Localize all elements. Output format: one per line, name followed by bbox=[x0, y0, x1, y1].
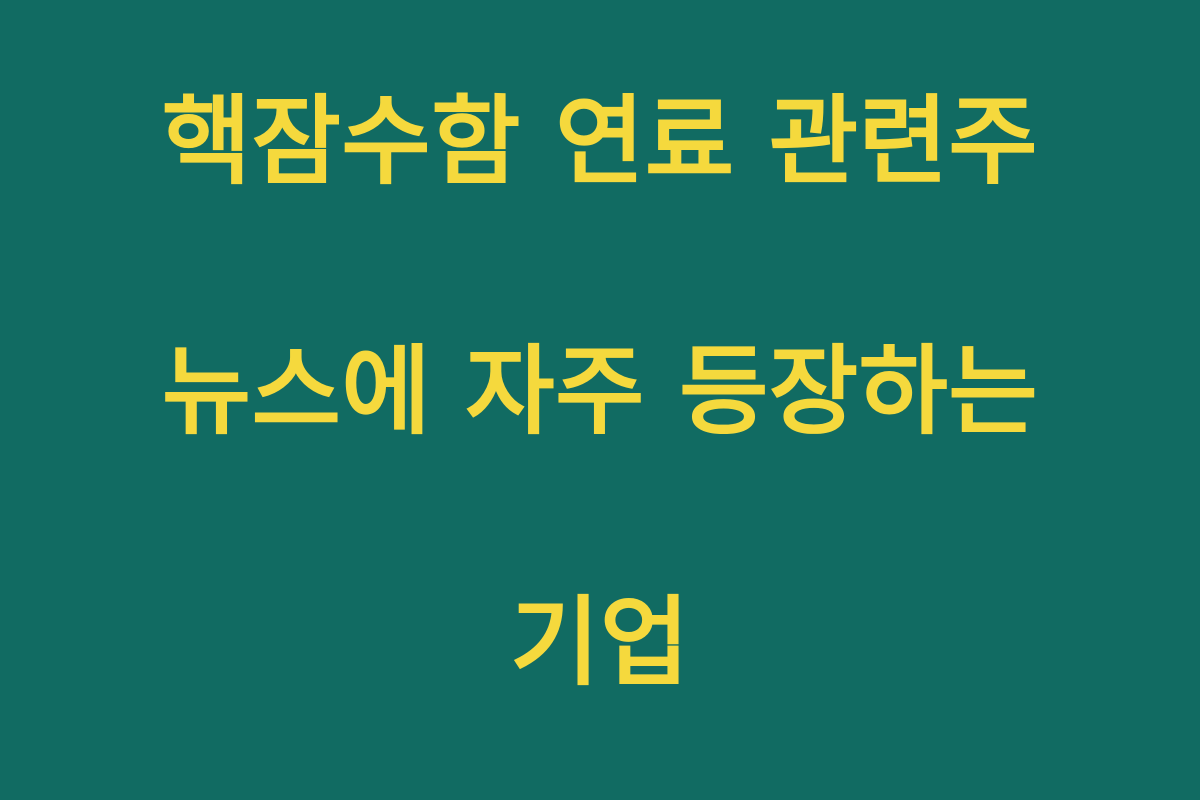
headline-text: 핵잠수함 연료 관련주 뉴스에 자주 등장하는 기업 bbox=[100, 0, 1100, 800]
headline-line-2: 뉴스에 자주 등장하는 bbox=[100, 329, 1100, 454]
headline-line-1: 핵잠수함 연료 관련주 bbox=[100, 79, 1100, 204]
headline-line-3: 기업 bbox=[100, 580, 1100, 705]
thumbnail-banner: 핵잠수함 연료 관련주 뉴스에 자주 등장하는 기업 bbox=[0, 0, 1200, 800]
